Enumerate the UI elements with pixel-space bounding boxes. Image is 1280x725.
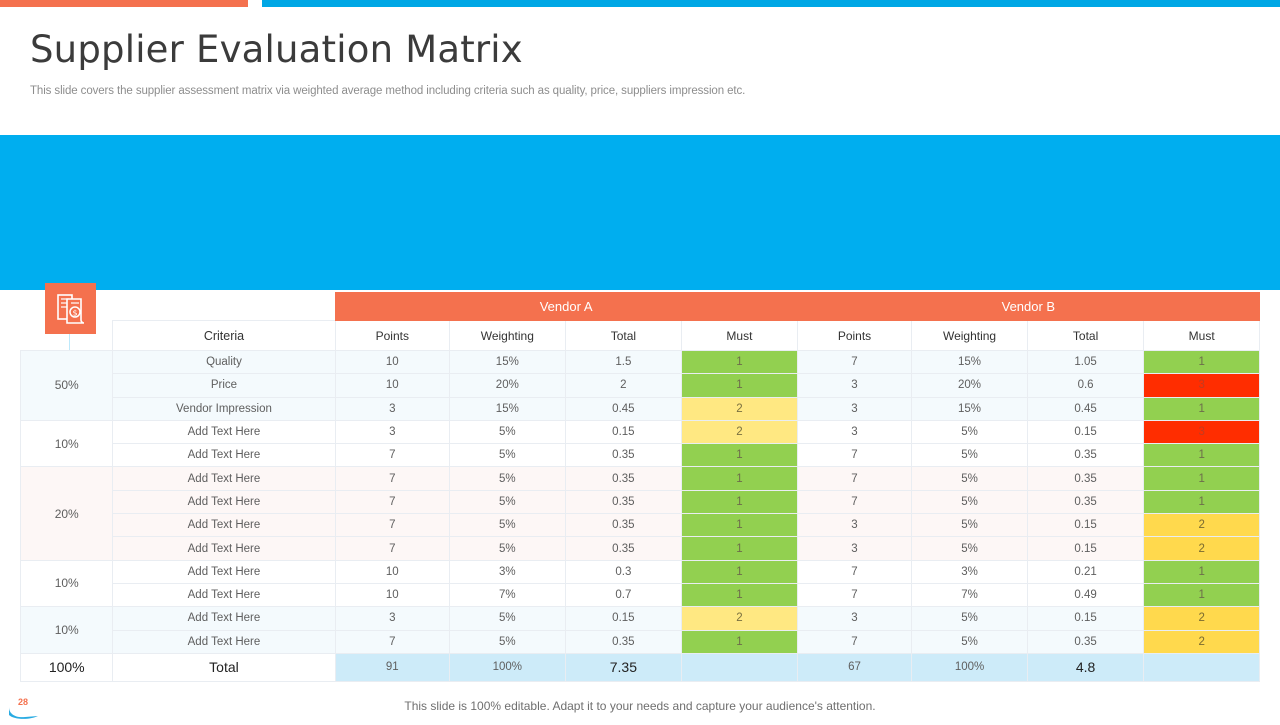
vendor-a-total-cell: 0.15 [565, 420, 682, 443]
total-row: 100% Total 91 100% 7.35 67 100% 4.8 [21, 653, 1260, 681]
vendor-a-must-cell: 1 [682, 630, 798, 653]
vendor-a-must-cell: 2 [682, 397, 798, 420]
vendor-b-must-cell: 1 [1144, 490, 1260, 513]
col-header-b-total: Total [1027, 321, 1144, 351]
vendor-b-must-cell: 2 [1144, 537, 1260, 560]
vendor-b-weighting-cell: 5% [912, 607, 1028, 630]
vendor-a-must-cell: 1 [682, 583, 798, 606]
total-b-points: 67 [797, 653, 912, 681]
vendor-a-weighting-cell: 15% [450, 397, 566, 420]
vendor-a-weighting-cell: 5% [450, 420, 566, 443]
criteria-cell: Add Text Here [113, 583, 335, 606]
vendor-a-points-cell: 3 [335, 420, 450, 443]
total-a-total: 7.35 [565, 653, 682, 681]
vendor-a-must-cell: 1 [682, 537, 798, 560]
col-header-b-weighting: Weighting [912, 321, 1028, 351]
vendor-a-points-cell: 7 [335, 444, 450, 467]
table-row: Vendor Impression315%0.452315%0.451 [21, 397, 1260, 420]
vendor-b-points-cell: 3 [797, 374, 912, 397]
vendor-a-points-cell: 7 [335, 467, 450, 490]
brand-logo-icon [8, 704, 40, 725]
total-b-total: 4.8 [1027, 653, 1144, 681]
col-header-a-total: Total [565, 321, 682, 351]
vendor-a-total-cell: 0.35 [565, 537, 682, 560]
vendor-b-must-cell: 2 [1144, 607, 1260, 630]
vendor-a-points-cell: 7 [335, 490, 450, 513]
vendor-b-weighting-cell: 5% [912, 444, 1028, 467]
vendor-a-weighting-cell: 5% [450, 630, 566, 653]
total-b-weighting: 100% [912, 653, 1028, 681]
vendor-b-total-cell: 0.6 [1027, 374, 1144, 397]
vendor-a-weighting-cell: 5% [450, 514, 566, 537]
vendor-b-total-cell: 0.49 [1027, 583, 1144, 606]
table-row: 10%Add Text Here35%0.15235%0.153 [21, 420, 1260, 443]
vendor-a-weighting-cell: 5% [450, 537, 566, 560]
group-weight-cell: 20% [21, 467, 113, 560]
vendor-a-must-cell: 2 [682, 420, 798, 443]
vendor-b-points-cell: 3 [797, 420, 912, 443]
vendor-a-total-cell: 0.35 [565, 514, 682, 537]
vendor-b-must-cell: 3 [1144, 420, 1260, 443]
vendor-b-total-cell: 0.35 [1027, 630, 1144, 653]
vendor-b-must-cell: 1 [1144, 444, 1260, 467]
vendor-b-total-cell: 0.15 [1027, 514, 1144, 537]
vendor-a-points-cell: 7 [335, 630, 450, 653]
vendor-a-weighting-cell: 5% [450, 490, 566, 513]
vendor-b-total-cell: 0.35 [1027, 490, 1144, 513]
vendor-a-total-cell: 0.35 [565, 444, 682, 467]
table-row: Add Text Here75%0.35135%0.152 [21, 514, 1260, 537]
vendor-a-must-cell: 1 [682, 351, 798, 374]
vendor-b-points-cell: 3 [797, 397, 912, 420]
vendor-a-weighting-cell: 20% [450, 374, 566, 397]
vendor-b-points-cell: 3 [797, 607, 912, 630]
table-row: 20%Add Text Here75%0.35175%0.351 [21, 467, 1260, 490]
total-a-weighting: 100% [450, 653, 566, 681]
vendor-header-row: Vendor A Vendor B [21, 293, 1260, 321]
vendor-a-total-cell: 0.35 [565, 490, 682, 513]
vendor-a-points-cell: 7 [335, 537, 450, 560]
vendor-a-must-cell: 1 [682, 444, 798, 467]
table-row: 10%Add Text Here35%0.15235%0.152 [21, 607, 1260, 630]
criteria-cell: Quality [113, 351, 335, 374]
top-accent-bar-orange [0, 0, 248, 7]
corner-blank [21, 293, 336, 321]
criteria-cell: Add Text Here [113, 560, 335, 583]
vendor-a-total-cell: 0.35 [565, 467, 682, 490]
vendor-b-points-cell: 7 [797, 583, 912, 606]
vendor-b-weighting-cell: 20% [912, 374, 1028, 397]
criteria-cell: Add Text Here [113, 490, 335, 513]
page-subtitle: This slide covers the supplier assessmen… [30, 85, 1080, 97]
col-header-b-must: Must [1144, 321, 1260, 351]
vendor-b-total-cell: 1.05 [1027, 351, 1144, 374]
total-label: Total [113, 653, 335, 681]
vendor-b-points-cell: 7 [797, 630, 912, 653]
vendor-a-weighting-cell: 5% [450, 607, 566, 630]
vendor-a-total-cell: 0.7 [565, 583, 682, 606]
vendor-b-weighting-cell: 5% [912, 490, 1028, 513]
table-row: Price1020%21320%0.63 [21, 374, 1260, 397]
vendor-b-points-cell: 7 [797, 467, 912, 490]
vendor-a-must-cell: 1 [682, 514, 798, 537]
vendor-b-points-cell: 7 [797, 560, 912, 583]
supplier-evaluation-table: Vendor A Vendor B Criteria Points Weight… [20, 292, 1260, 682]
criteria-cell: Add Text Here [113, 467, 335, 490]
criteria-cell: Add Text Here [113, 607, 335, 630]
vendor-b-weighting-cell: 15% [912, 397, 1028, 420]
vendor-a-must-cell: 2 [682, 607, 798, 630]
vendor-a-points-cell: 10 [335, 560, 450, 583]
vendor-b-weighting-cell: 7% [912, 583, 1028, 606]
column-header-row: Criteria Points Weighting Total Must Poi… [21, 321, 1260, 351]
vendor-b-must-cell: 1 [1144, 467, 1260, 490]
vendor-b-total-cell: 0.35 [1027, 467, 1144, 490]
vendor-a-points-cell: 7 [335, 514, 450, 537]
vendor-a-header: Vendor A [335, 293, 797, 321]
vendor-b-must-cell: 1 [1144, 397, 1260, 420]
vendor-b-must-cell: 2 [1144, 514, 1260, 537]
table-row: Add Text Here75%0.35175%0.351 [21, 490, 1260, 513]
criteria-cell: Add Text Here [113, 537, 335, 560]
top-accent-bar-blue [262, 0, 1280, 7]
col-header-a-points: Points [335, 321, 450, 351]
vendor-a-points-cell: 10 [335, 583, 450, 606]
footer-note: This slide is 100% editable. Adapt it to… [0, 699, 1280, 713]
vendor-b-total-cell: 0.45 [1027, 397, 1144, 420]
vendor-b-weighting-cell: 5% [912, 420, 1028, 443]
vendor-b-total-cell: 0.15 [1027, 537, 1144, 560]
vendor-b-points-cell: 7 [797, 351, 912, 374]
vendor-b-weighting-cell: 3% [912, 560, 1028, 583]
vendor-b-points-cell: 3 [797, 514, 912, 537]
page-title: Supplier Evaluation Matrix [30, 28, 523, 71]
table-row: Add Text Here75%0.35175%0.351 [21, 444, 1260, 467]
vendor-a-points-cell: 3 [335, 607, 450, 630]
group-weight-cell: 10% [21, 560, 113, 607]
pct-col-blank-header [21, 321, 113, 351]
vendor-b-weighting-cell: 5% [912, 537, 1028, 560]
vendor-a-weighting-cell: 5% [450, 467, 566, 490]
vendor-a-must-cell: 1 [682, 560, 798, 583]
vendor-b-points-cell: 3 [797, 537, 912, 560]
criteria-cell: Add Text Here [113, 420, 335, 443]
group-weight-cell: 10% [21, 420, 113, 467]
vendor-a-must-cell: 1 [682, 374, 798, 397]
legend-score-panel: $ Legend Score 01 10 Fully Accomplished … [0, 135, 1280, 290]
col-header-a-weighting: Weighting [450, 321, 566, 351]
criteria-cell: Add Text Here [113, 630, 335, 653]
vendor-b-header: Vendor B [797, 293, 1259, 321]
total-b-must [1144, 653, 1260, 681]
vendor-b-must-cell: 2 [1144, 630, 1260, 653]
vendor-a-total-cell: 0.15 [565, 607, 682, 630]
vendor-b-weighting-cell: 5% [912, 630, 1028, 653]
vendor-b-must-cell: 1 [1144, 583, 1260, 606]
vendor-b-weighting-cell: 15% [912, 351, 1028, 374]
vendor-b-must-cell: 1 [1144, 351, 1260, 374]
vendor-b-must-cell: 1 [1144, 560, 1260, 583]
vendor-a-points-cell: 10 [335, 374, 450, 397]
vendor-a-weighting-cell: 7% [450, 583, 566, 606]
vendor-b-total-cell: 0.15 [1027, 607, 1144, 630]
vendor-b-total-cell: 0.35 [1027, 444, 1144, 467]
vendor-a-total-cell: 0.45 [565, 397, 682, 420]
vendor-a-weighting-cell: 3% [450, 560, 566, 583]
vendor-b-total-cell: 0.15 [1027, 420, 1144, 443]
group-weight-cell: 10% [21, 607, 113, 654]
criteria-cell: Add Text Here [113, 514, 335, 537]
total-pct: 100% [21, 653, 113, 681]
vendor-b-weighting-cell: 5% [912, 467, 1028, 490]
col-header-a-must: Must [682, 321, 798, 351]
col-header-b-points: Points [797, 321, 912, 351]
vendor-a-total-cell: 0.35 [565, 630, 682, 653]
vendor-a-weighting-cell: 5% [450, 444, 566, 467]
criteria-cell: Price [113, 374, 335, 397]
criteria-cell: Vendor Impression [113, 397, 335, 420]
table-row: Add Text Here107%0.7177%0.491 [21, 583, 1260, 606]
vendor-b-must-cell: 3 [1144, 374, 1260, 397]
vendor-a-total-cell: 1.5 [565, 351, 682, 374]
group-weight-cell: 50% [21, 351, 113, 421]
table-row: 50%Quality1015%1.51715%1.051 [21, 351, 1260, 374]
vendor-a-total-cell: 0.3 [565, 560, 682, 583]
total-a-must [682, 653, 798, 681]
vendor-a-must-cell: 1 [682, 467, 798, 490]
vendor-a-points-cell: 10 [335, 351, 450, 374]
table-row: Add Text Here75%0.35135%0.152 [21, 537, 1260, 560]
vendor-b-points-cell: 7 [797, 490, 912, 513]
table-row: Add Text Here75%0.35175%0.352 [21, 630, 1260, 653]
vendor-b-weighting-cell: 5% [912, 514, 1028, 537]
vendor-b-total-cell: 0.21 [1027, 560, 1144, 583]
criteria-cell: Add Text Here [113, 444, 335, 467]
table-row: 10%Add Text Here103%0.3173%0.211 [21, 560, 1260, 583]
vendor-a-points-cell: 3 [335, 397, 450, 420]
total-a-points: 91 [335, 653, 450, 681]
vendor-b-points-cell: 7 [797, 444, 912, 467]
col-header-criteria: Criteria [113, 321, 335, 351]
vendor-a-must-cell: 1 [682, 490, 798, 513]
vendor-a-weighting-cell: 15% [450, 351, 566, 374]
vendor-a-total-cell: 2 [565, 374, 682, 397]
